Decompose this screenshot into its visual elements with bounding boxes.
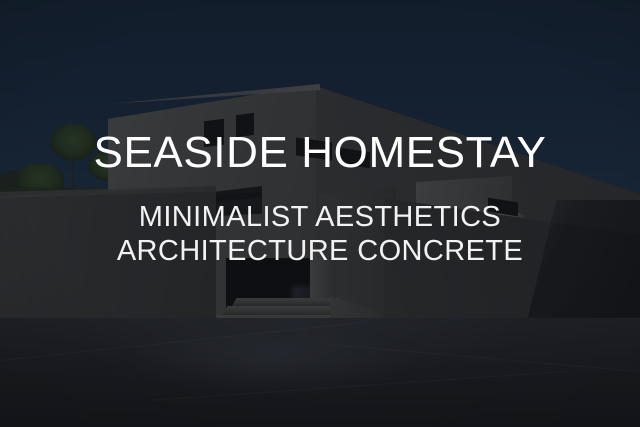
banner-title: SEASIDE HOMESTAY: [94, 131, 547, 175]
banner-caption: SEASIDE HOMESTAY MINIMALIST AESTHETICS A…: [0, 0, 640, 427]
banner-subtitle-line-1: MINIMALIST AESTHETICS: [139, 201, 501, 235]
hero-banner: SEASIDE HOMESTAY MINIMALIST AESTHETICS A…: [0, 0, 640, 427]
banner-subtitle-line-2: ARCHITECTURE CONCRETE: [117, 235, 523, 269]
